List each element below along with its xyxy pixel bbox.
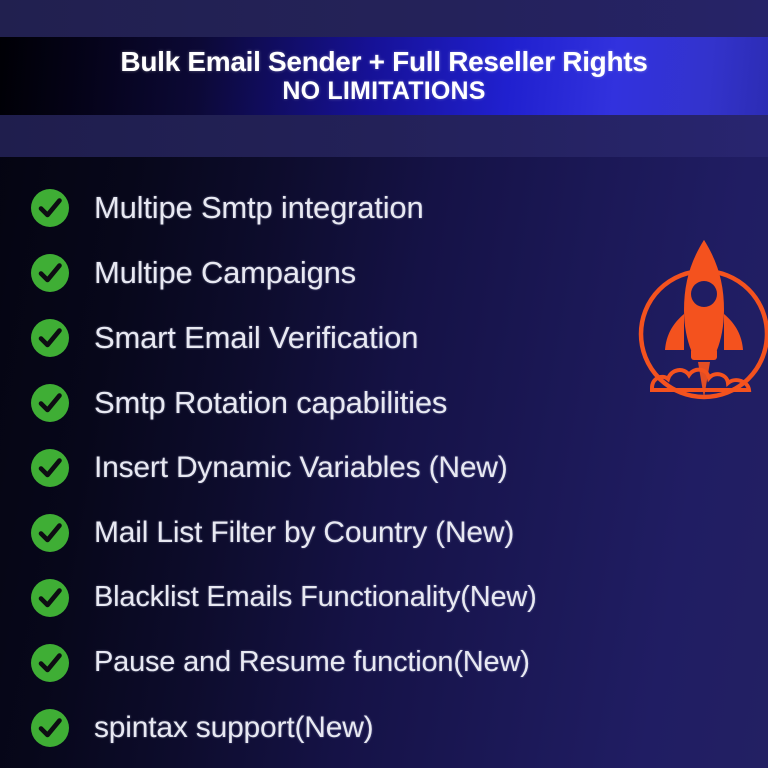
promo-poster: Bulk Email Sender + Full Reseller Rights… — [0, 0, 768, 768]
list-item: spintax support(New) — [0, 695, 768, 760]
check-circle-icon — [30, 448, 70, 488]
list-item: Insert Dynamic Variables (New) — [0, 435, 768, 500]
feature-list: Multipe Smtp integration Multipe Campaig… — [0, 157, 768, 768]
check-circle-icon — [30, 188, 70, 228]
top-accent-strip — [0, 0, 768, 37]
check-circle-icon — [30, 318, 70, 358]
check-circle-icon — [30, 643, 70, 683]
list-item-label: Blacklist Emails Functionality(New) — [94, 581, 537, 614]
check-circle-icon — [30, 578, 70, 618]
check-circle-icon — [30, 708, 70, 748]
list-item: Mail List Filter by Country (New) — [0, 500, 768, 565]
check-circle-icon — [30, 383, 70, 423]
list-item-label: spintax support(New) — [94, 711, 373, 745]
list-item-label: Pause and Resume function(New) — [94, 646, 530, 679]
headline-primary: Bulk Email Sender + Full Reseller Rights — [120, 47, 647, 77]
check-circle-icon — [30, 253, 70, 293]
list-item: Smart Email Verification — [0, 305, 768, 370]
headline-banner: Bulk Email Sender + Full Reseller Rights… — [0, 37, 768, 115]
headline-secondary: NO LIMITATIONS — [282, 77, 485, 105]
list-item-label: Smtp Rotation capabilities — [94, 385, 447, 421]
list-item: Blacklist Emails Functionality(New) — [0, 565, 768, 630]
list-item: Multipe Smtp integration — [0, 175, 768, 240]
list-item-label: Multipe Campaigns — [94, 255, 356, 291]
under-banner-strip — [0, 115, 768, 157]
check-circle-icon — [30, 513, 70, 553]
list-item-label: Multipe Smtp integration — [94, 190, 423, 226]
list-item-label: Smart Email Verification — [94, 320, 418, 356]
list-item-label: Mail List Filter by Country (New) — [94, 516, 514, 550]
list-item-label: Insert Dynamic Variables (New) — [94, 451, 508, 485]
list-item: Smtp Rotation capabilities — [0, 370, 768, 435]
list-item: Pause and Resume function(New) — [0, 630, 768, 695]
list-item: Multipe Campaigns — [0, 240, 768, 305]
